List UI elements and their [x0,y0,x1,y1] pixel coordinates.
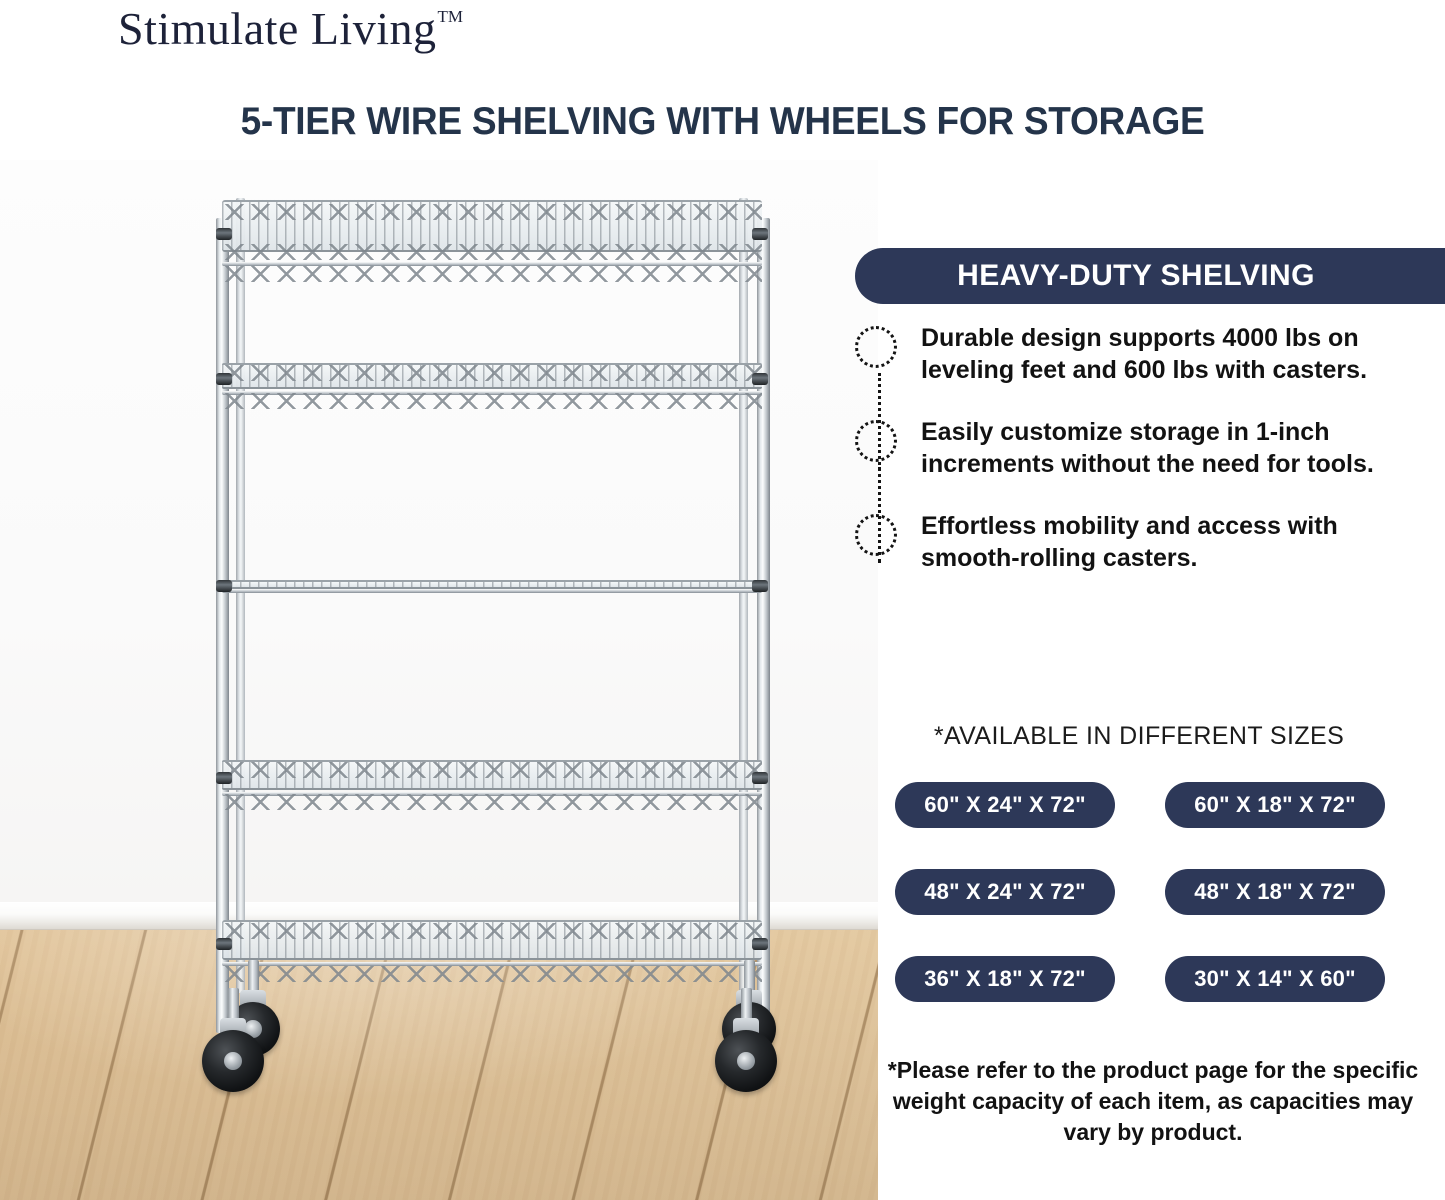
shelf-mesh-zigzag [222,762,762,778]
feature-item: Easily customize storage in 1-inch incre… [855,416,1445,480]
feature-item-text: Easily customize storage in 1-inch incre… [921,416,1441,480]
shelf-collar [216,772,232,784]
shelf-collar [752,772,768,784]
dotted-circle-icon [855,326,897,368]
feature-item-text: Effortless mobility and access with smoo… [921,510,1441,574]
caster-stem [741,988,752,1022]
product-infographic: Stimulate LivingTM 5-TIER WIRE SHELVING … [0,0,1445,1200]
brand-logo: Stimulate LivingTM [118,2,462,55]
shelf-mesh-zigzag [222,244,762,260]
shelf-collar [752,228,768,240]
size-option-pill[interactable]: 48" X 18" X 72" [1165,869,1385,915]
feature-item: Effortless mobility and access with smoo… [855,510,1445,574]
feature-item-text: Durable design supports 4000 lbs on leve… [921,322,1441,386]
caster-stem [228,988,239,1022]
shelf-mesh-zigzag [222,794,762,810]
shelf-tier-1 [222,200,762,280]
feature-item: Durable design supports 4000 lbs on leve… [855,322,1445,386]
info-panel: HEAVY-DUTY SHELVING Durable design suppo… [855,0,1445,1200]
brand-logo-text: Stimulate Living [118,3,436,54]
caster-hub [224,1052,242,1070]
feature-badge: HEAVY-DUTY SHELVING [855,248,1445,304]
shelf-collar [216,228,232,240]
caster-wheel-front-right [716,988,776,1098]
shelf-mesh-zigzag [222,266,762,282]
size-option-pill[interactable]: 48" X 24" X 72" [895,869,1115,915]
caster-wheel-front-left [203,988,263,1098]
shelf-collar [216,373,232,385]
dotted-circle-icon [855,420,897,462]
wire-shelving-unit [0,160,878,1200]
shelf-mesh-zigzag [222,393,762,409]
shelf-collar [752,938,768,950]
shelf-post-front-right [757,218,770,1033]
shelf-collar [752,373,768,385]
shelf-mesh-zigzag [222,204,762,220]
size-option-pill[interactable]: 60" X 18" X 72" [1165,782,1385,828]
shelf-collar [216,580,232,592]
sizes-heading: *AVAILABLE IN DIFFERENT SIZES [855,722,1423,751]
shelf-mesh-zigzag [222,923,762,939]
shelf-tier-5 [222,920,762,986]
feature-badge-label: HEAVY-DUTY SHELVING [957,259,1343,293]
shelf-mesh-zigzag [222,966,762,982]
shelf-tier-4 [222,760,762,814]
capacity-disclaimer: *Please refer to the product page for th… [873,1055,1433,1148]
size-options-grid: 60" X 24" X 72" 60" X 18" X 72" 48" X 24… [895,782,1435,1002]
shelf-collar [752,580,768,592]
size-option-pill[interactable]: 36" X 18" X 72" [895,956,1115,1002]
shelf-collar [216,938,232,950]
shelf-post-front-left [216,218,229,1033]
feature-list: Durable design supports 4000 lbs on leve… [855,322,1445,574]
dotted-circle-icon [855,514,897,556]
shelf-tier-3 [222,580,762,600]
trademark-symbol: TM [437,7,463,26]
product-photo [0,160,878,1200]
size-option-pill[interactable]: 30" X 14" X 60" [1165,956,1385,1002]
caster-hub [737,1052,755,1070]
shelf-rail [222,589,762,593]
shelf-deck [222,580,762,589]
size-option-pill[interactable]: 60" X 24" X 72" [895,782,1115,828]
shelf-mesh-zigzag [222,365,762,381]
shelf-tier-2 [222,363,762,409]
